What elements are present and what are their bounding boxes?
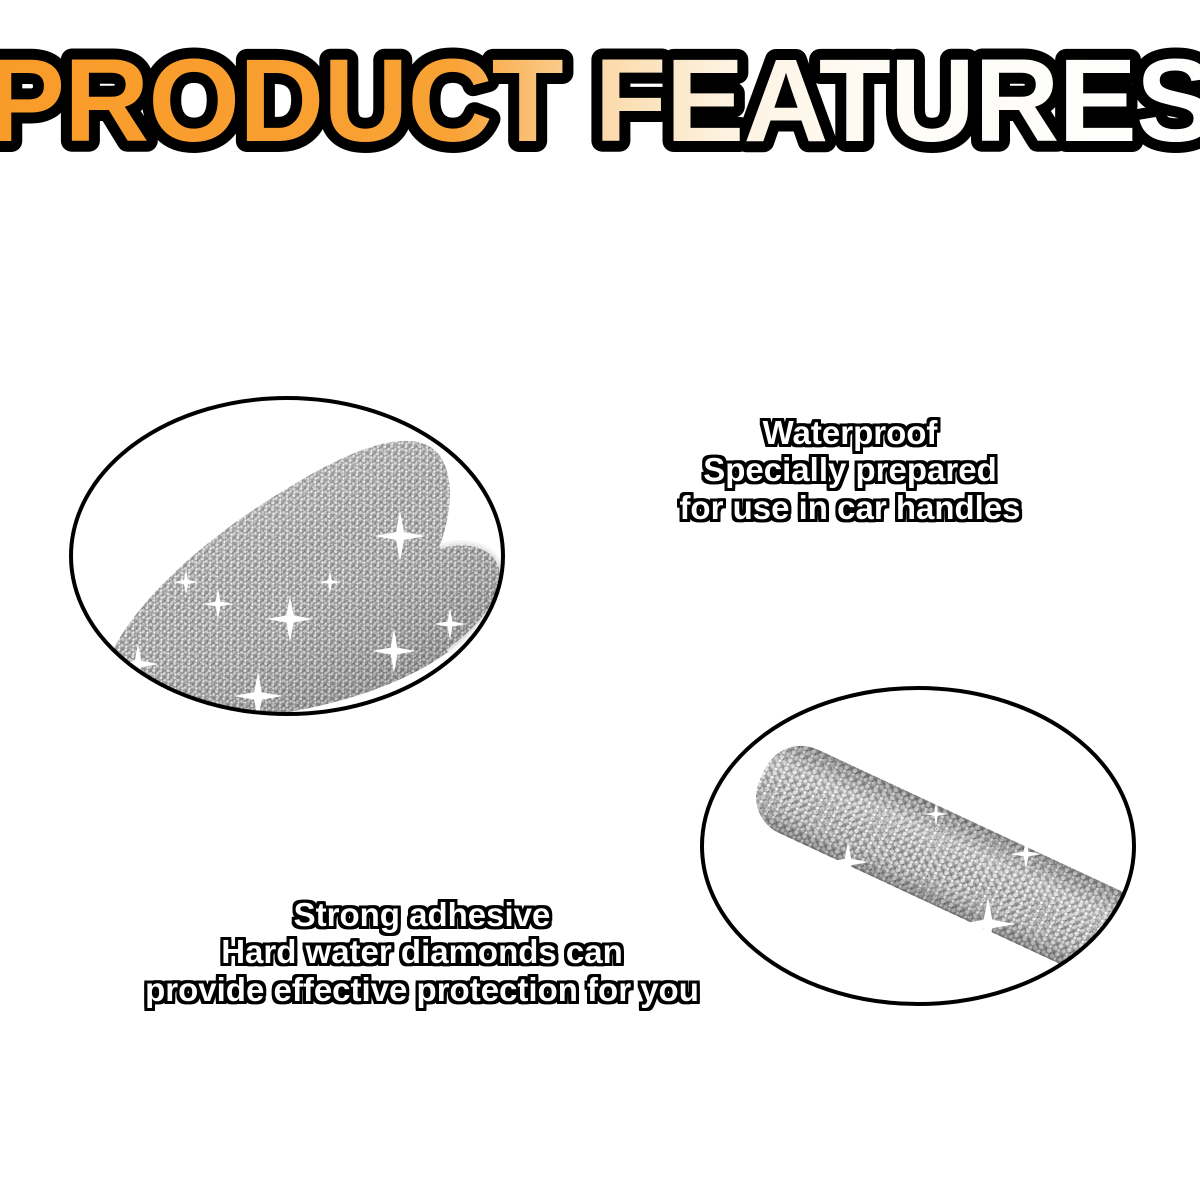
product-image-handle-cover <box>68 396 506 716</box>
caption-line: provide effective protection for you <box>52 971 792 1008</box>
caption-line: Hard water diamonds can <box>52 933 792 970</box>
caption-line: Specially prepared <box>600 451 1100 488</box>
page-title-graphic: PRODUCT FEATURES PRODUCT FEATURES <box>120 41 1080 181</box>
page-title-fill: PRODUCT FEATURES <box>0 35 1200 167</box>
feature-caption-waterproof: Waterproof Specially prepared for use in… <box>600 414 1100 526</box>
handle-cover-graphic <box>68 396 506 716</box>
caption-line: Strong adhesive <box>52 896 792 933</box>
feature-caption-adhesive: Strong adhesive Hard water diamonds can … <box>52 896 792 1008</box>
caption-line: for use in car handles <box>600 489 1100 526</box>
page-title: PRODUCT FEATURES PRODUCT FEATURES <box>0 52 1200 170</box>
product-features-infographic: PRODUCT FEATURES PRODUCT FEATURES <box>0 0 1200 1200</box>
caption-line: Waterproof <box>600 414 1100 451</box>
